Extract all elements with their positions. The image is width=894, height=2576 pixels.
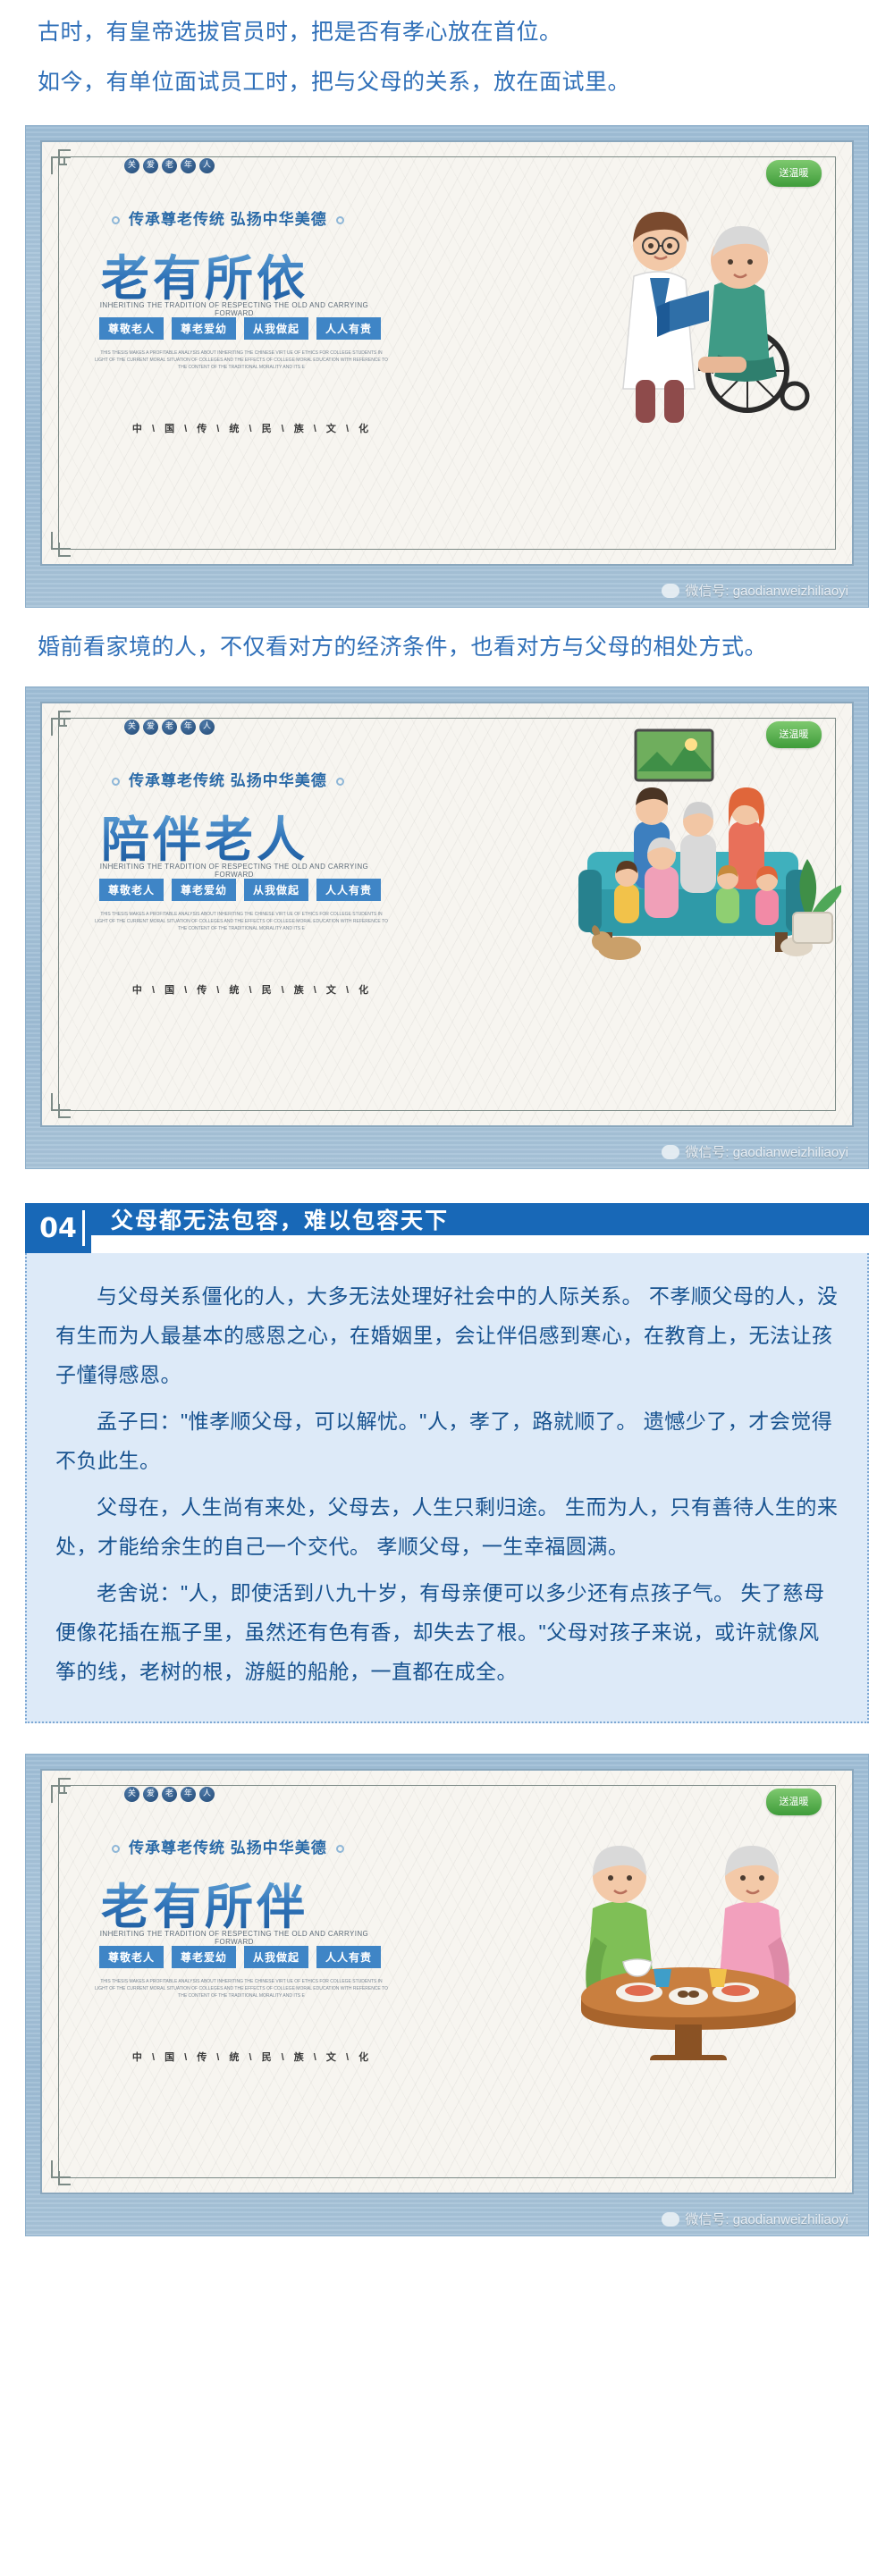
badge-char: 关 [124, 1787, 139, 1802]
poster-1-tag-row: 尊敬老人 尊老爱幼 从我做起 人人有责 [99, 317, 381, 340]
ring-icon-left [112, 216, 120, 224]
wechat-watermark-2: 微信号: gaodianweizhiliaoyi [662, 1142, 848, 1161]
body-paragraph: 父母在，人生尚有来处，父母去，人生只剩归途。 生而为人，只有善待人生的来处，才能… [55, 1487, 839, 1566]
corner-ornament-bottom-left-icon [51, 530, 81, 557]
poster-tag: 从我做起 [244, 1946, 308, 1968]
section-number: 04 [25, 1203, 91, 1253]
poster-tag: 尊老爱幼 [172, 879, 236, 901]
corner-ornament-top-left-icon [51, 711, 81, 737]
poster-3-badge-row: 关 爱 老 年 人 [124, 1787, 215, 1802]
poster-2-title: 陪伴老人 [101, 800, 308, 871]
article-page: 古时，有皇帝选拔官员时，把是否有孝心放在首位。 如今，有单位面试员工时，把与父母… [0, 0, 894, 2576]
illustration-two-elderly-women-at-table-icon [541, 1794, 836, 2062]
corner-ornament-bottom-left-icon [51, 2159, 81, 2185]
badge-char: 爱 [143, 720, 158, 735]
badge-char: 关 [124, 158, 139, 173]
slogan-text: 传承尊老传统 弘扬中华美德 [129, 211, 327, 228]
middle-paragraph: 婚前看家境的人，不仅看对方的经济条件，也看对方与父母的相处方式。 [38, 627, 856, 667]
wechat-bubble-icon [662, 2212, 679, 2227]
ring-icon-left [112, 778, 120, 786]
wechat-watermark-text: 微信号: gaodianweizhiliaoyi [685, 581, 848, 600]
poster-2-english-subtitle: INHERITING THE TRADITION OF RESPECTING T… [96, 863, 373, 879]
wechat-watermark-text: 微信号: gaodianweizhiliaoyi [685, 2210, 848, 2228]
badge-char: 年 [181, 720, 196, 735]
badge-char: 老 [162, 158, 177, 173]
section-04-content: 与父母关系僵化的人，大多无法处理好社会中的人际关系。 不孝顺父母的人，没有生而为… [25, 1253, 869, 1723]
wechat-watermark-1: 微信号: gaodianweizhiliaoyi [662, 581, 848, 600]
poster-image-3: 关 爱 老 年 人 送温暖 传承尊老传统 弘扬中华美德 老有所伴 INHERIT… [25, 1754, 869, 2236]
slogan-text: 传承尊老传统 弘扬中华美德 [129, 1839, 327, 1856]
intro-block: 古时，有皇帝选拔官员时，把是否有孝心放在首位。 如今，有单位面试员工时，把与父母… [0, 0, 894, 102]
poster-tag: 尊敬老人 [99, 317, 164, 340]
body-paragraph: 与父母关系僵化的人，大多无法处理好社会中的人际关系。 不孝顺父母的人，没有生而为… [55, 1276, 839, 1394]
poster-3-inner: 关 爱 老 年 人 送温暖 传承尊老传统 弘扬中华美德 老有所伴 INHERIT… [40, 1769, 854, 2194]
corner-ornament-top-left-icon [51, 1778, 81, 1805]
poster-1-culture-line: 中 \ 国 \ 传 \ 统 \ 民 \ 族 \ 文 \ 化 [42, 421, 462, 435]
badge-char: 关 [124, 720, 139, 735]
corner-ornament-top-left-icon [51, 149, 81, 176]
badge-char: 爱 [143, 1787, 158, 1802]
poster-2-micro-english: THIS THESIS MAKES A PROFITABLE ANALYSIS … [94, 911, 389, 932]
badge-char: 老 [162, 720, 177, 735]
body-paragraph: 孟子曰："惟孝顺父母，可以解忧。"人，孝了，路就顺了。 遗憾少了，才会觉得不负此… [55, 1402, 839, 1480]
poster-3-title: 老有所伴 [101, 1867, 308, 1938]
poster-1-title: 老有所依 [101, 239, 308, 309]
intro-paragraph-2: 如今，有单位面试员工时，把与父母的关系，放在面试里。 [38, 52, 856, 102]
middle-paragraph-block: 婚前看家境的人，不仅看对方的经济条件，也看对方与父母的相处方式。 [0, 608, 894, 667]
slogan-text: 传承尊老传统 弘扬中华美德 [129, 772, 327, 789]
poster-3-tag-row: 尊敬老人 尊老爱幼 从我做起 人人有责 [99, 1946, 381, 1968]
poster-tag: 从我做起 [244, 317, 308, 340]
badge-char: 爱 [143, 158, 158, 173]
poster-1-micro-english: THIS THESIS MAKES A PROFITABLE ANALYSIS … [94, 349, 389, 371]
poster-tag: 人人有责 [316, 317, 381, 340]
corner-ornament-bottom-left-icon [51, 1091, 81, 1118]
badge-char: 人 [199, 720, 215, 735]
badge-char: 年 [181, 1787, 196, 1802]
ring-icon-right [336, 216, 344, 224]
wechat-watermark-text: 微信号: gaodianweizhiliaoyi [685, 1142, 848, 1161]
ring-icon-right [336, 778, 344, 786]
poster-1-badge-row: 关 爱 老 年 人 [124, 158, 215, 173]
illustration-doctor-and-elderly-in-wheelchair-icon [564, 167, 832, 435]
badge-char: 人 [199, 158, 215, 173]
badge-char: 老 [162, 1787, 177, 1802]
ring-icon-left [112, 1845, 120, 1853]
poster-2-badge-row: 关 爱 老 年 人 [124, 720, 215, 735]
section-title-wrap: 父母都无法包容，难以包容天下 [91, 1203, 869, 1253]
body-paragraph: 老舍说："人，即使活到八九十岁，有母亲便可以多少还有点孩子气。 失了慈母便像花插… [55, 1573, 839, 1691]
poster-image-2: 关 爱 老 年 人 送温暖 传承尊老传统 弘扬中华美德 陪伴老人 INHERIT… [25, 686, 869, 1169]
poster-tag: 尊老爱幼 [172, 317, 236, 340]
ring-icon-right [336, 1845, 344, 1853]
poster-1-english-subtitle: INHERITING THE TRADITION OF RESPECTING T… [96, 301, 373, 317]
poster-2-tag-row: 尊敬老人 尊老爱幼 从我做起 人人有责 [99, 879, 381, 901]
poster-tag: 尊敬老人 [99, 879, 164, 901]
wechat-bubble-icon [662, 1145, 679, 1159]
poster-3-english-subtitle: INHERITING THE TRADITION OF RESPECTING T… [96, 1930, 373, 1946]
wechat-bubble-icon [662, 584, 679, 598]
intro-paragraph-1: 古时，有皇帝选拔官员时，把是否有孝心放在首位。 [38, 0, 856, 52]
poster-tag: 人人有责 [316, 1946, 381, 1968]
illustration-family-on-sofa-icon [537, 721, 841, 1007]
poster-tag: 人人有责 [316, 879, 381, 901]
poster-tag: 从我做起 [244, 879, 308, 901]
poster-2-inner: 关 爱 老 年 人 送温暖 传承尊老传统 弘扬中华美德 陪伴老人 INHERIT… [40, 702, 854, 1127]
badge-char: 年 [181, 158, 196, 173]
badge-char: 人 [199, 1787, 215, 1802]
poster-3-micro-english: THIS THESIS MAKES A PROFITABLE ANALYSIS … [94, 1978, 389, 1999]
section-04-header: 04 父母都无法包容，难以包容天下 [25, 1203, 869, 1253]
poster-1-inner: 关 爱 老 年 人 送温暖 传承尊老传统 弘扬中华美德 老有所依 INHERIT… [40, 140, 854, 566]
poster-tag: 尊老爱幼 [172, 1946, 236, 1968]
wechat-watermark-3: 微信号: gaodianweizhiliaoyi [662, 2210, 848, 2228]
poster-tag: 尊敬老人 [99, 1946, 164, 1968]
section-title: 父母都无法包容，难以包容天下 [91, 1203, 869, 1235]
poster-image-1: 关 爱 老 年 人 送温暖 传承尊老传统 弘扬中华美德 老有所依 INHERIT… [25, 125, 869, 608]
poster-3-culture-line: 中 \ 国 \ 传 \ 统 \ 民 \ 族 \ 文 \ 化 [42, 2050, 462, 2064]
poster-2-culture-line: 中 \ 国 \ 传 \ 统 \ 民 \ 族 \ 文 \ 化 [42, 982, 462, 997]
